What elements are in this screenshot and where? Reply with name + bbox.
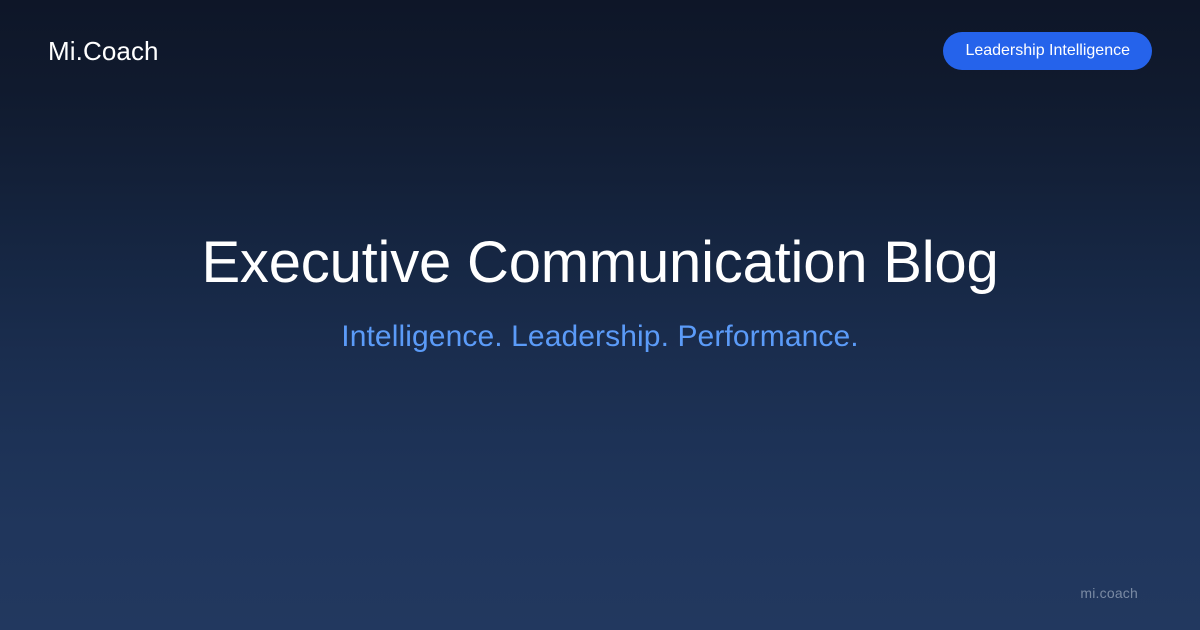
hero-section: Executive Communication Blog Intelligenc… xyxy=(0,0,1200,630)
og-card-canvas: Mi.Coach Leadership Intelligence Executi… xyxy=(0,0,1200,630)
page-title: Executive Communication Blog xyxy=(201,231,998,296)
site-watermark: mi.coach xyxy=(1080,586,1138,600)
page-subtitle: Intelligence. Leadership. Performance. xyxy=(341,318,858,356)
